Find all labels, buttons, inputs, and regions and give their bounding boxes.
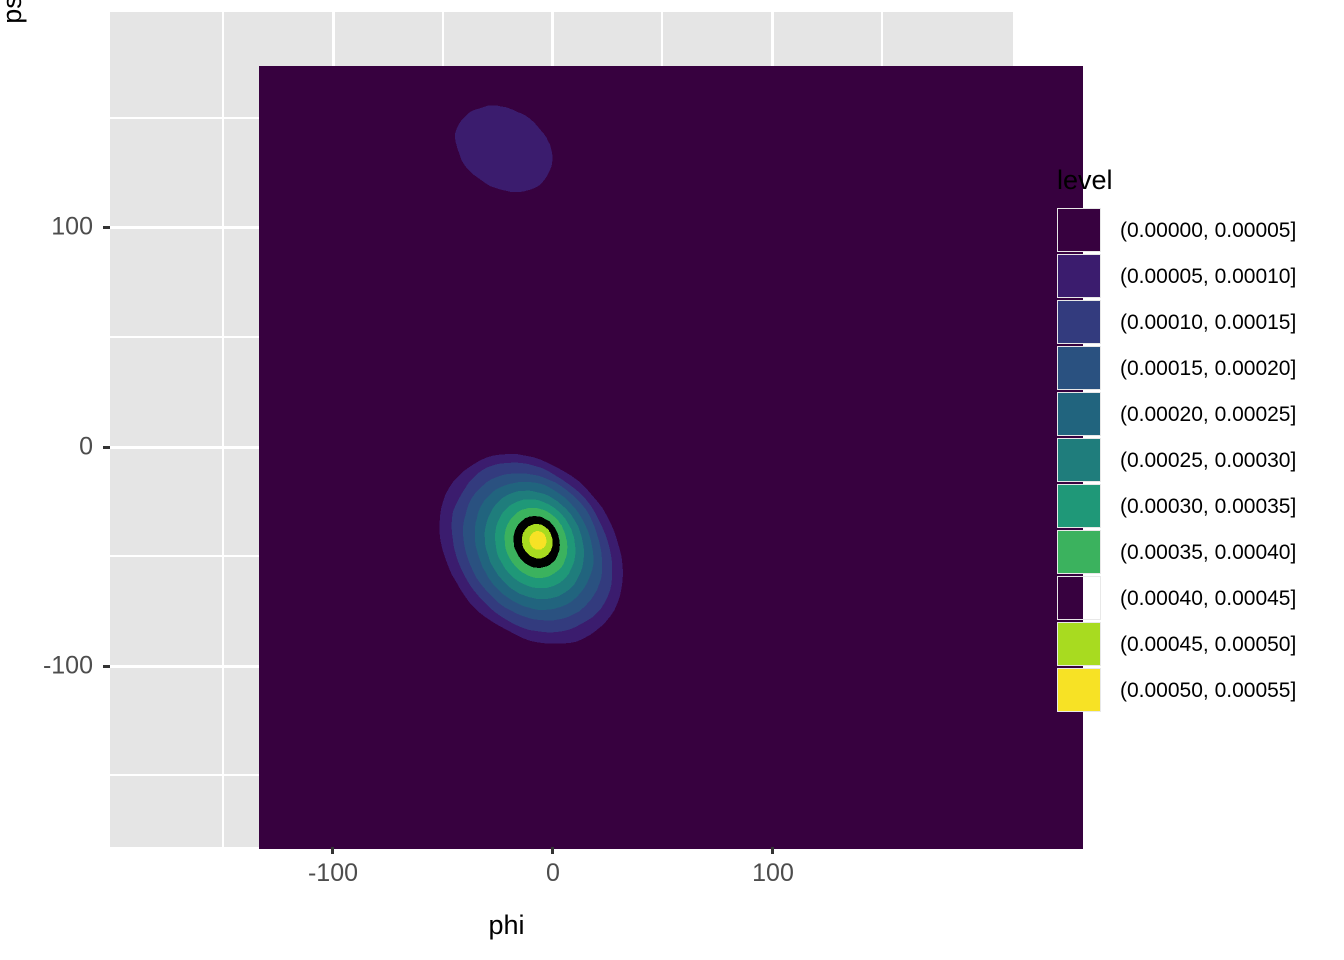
contour-band-base	[259, 66, 1083, 849]
legend-swatch	[1057, 668, 1101, 712]
legend-item[interactable]: (0.00030, 0.00035]	[1053, 483, 1343, 529]
tick-psi-0	[103, 446, 110, 449]
legend-title: level	[1057, 165, 1343, 195]
legend-swatch	[1057, 530, 1101, 574]
legend-swatch	[1057, 300, 1101, 344]
tick-phi--100	[331, 847, 334, 854]
legend-item[interactable]: (0.00035, 0.00040]	[1053, 529, 1343, 575]
legend-label: (0.00010, 0.00015]	[1120, 312, 1296, 333]
legend-label: (0.00015, 0.00020]	[1120, 358, 1296, 379]
legend-item[interactable]: (0.00040, 0.00045]	[1053, 575, 1343, 621]
legend-label: (0.00020, 0.00025]	[1120, 404, 1296, 425]
legend-label: (0.00005, 0.00010]	[1120, 266, 1296, 287]
contour-surface	[259, 66, 1083, 849]
legend-label: (0.00000, 0.00005]	[1120, 220, 1296, 241]
tick-phi-100	[771, 847, 774, 854]
legend-swatch	[1057, 622, 1101, 666]
legend-swatch	[1057, 484, 1101, 528]
legend-item[interactable]: (0.00045, 0.00050]	[1053, 621, 1343, 667]
legend-item[interactable]: (0.00050, 0.00055]	[1053, 667, 1343, 713]
legend-label: (0.00050, 0.00055]	[1120, 680, 1296, 701]
contour-plot: 100 0 -100 psi -100 0 100 phi level (0.0…	[0, 0, 1344, 960]
legend-swatch	[1057, 208, 1101, 252]
legend-swatch	[1057, 346, 1101, 390]
legend-swatch	[1057, 392, 1101, 436]
axis-title-psi: psi	[0, 0, 37, 424]
legend: level (0.00000, 0.00005](0.00005, 0.0001…	[1053, 165, 1343, 713]
tick-phi-0	[551, 847, 554, 854]
legend-label: (0.00040, 0.00045]	[1120, 588, 1296, 609]
tick-label-phi-0: 0	[546, 859, 560, 888]
tick-label-phi-100: 100	[752, 859, 794, 888]
plot-panel	[110, 12, 1013, 847]
tick-label-phi--100: -100	[308, 859, 358, 888]
legend-entries: (0.00000, 0.00005](0.00005, 0.00010](0.0…	[1053, 207, 1343, 713]
contour-data-region	[259, 66, 1083, 849]
tick-psi--100	[103, 665, 110, 668]
legend-item[interactable]: (0.00000, 0.00005]	[1053, 207, 1343, 253]
tick-label-psi-0: 0	[79, 433, 93, 462]
legend-item[interactable]: (0.00025, 0.00030]	[1053, 437, 1343, 483]
legend-label: (0.00045, 0.00050]	[1120, 634, 1296, 655]
legend-label: (0.00035, 0.00040]	[1120, 542, 1296, 563]
axis-title-phi: phi	[0, 910, 1013, 941]
gridline-minor-phi--150	[222, 12, 224, 847]
tick-label-psi-100: 100	[51, 213, 93, 242]
legend-label: (0.00025, 0.00030]	[1120, 450, 1296, 471]
tick-psi-100	[103, 226, 110, 229]
legend-item[interactable]: (0.00015, 0.00020]	[1053, 345, 1343, 391]
legend-item[interactable]: (0.00020, 0.00025]	[1053, 391, 1343, 437]
tick-label-psi--100: -100	[43, 652, 93, 681]
legend-swatch	[1057, 438, 1101, 482]
legend-swatch	[1057, 254, 1101, 298]
legend-item[interactable]: (0.00005, 0.00010]	[1053, 253, 1343, 299]
legend-item[interactable]: (0.00010, 0.00015]	[1053, 299, 1343, 345]
legend-label: (0.00030, 0.00035]	[1120, 496, 1296, 517]
legend-swatch	[1057, 576, 1101, 620]
